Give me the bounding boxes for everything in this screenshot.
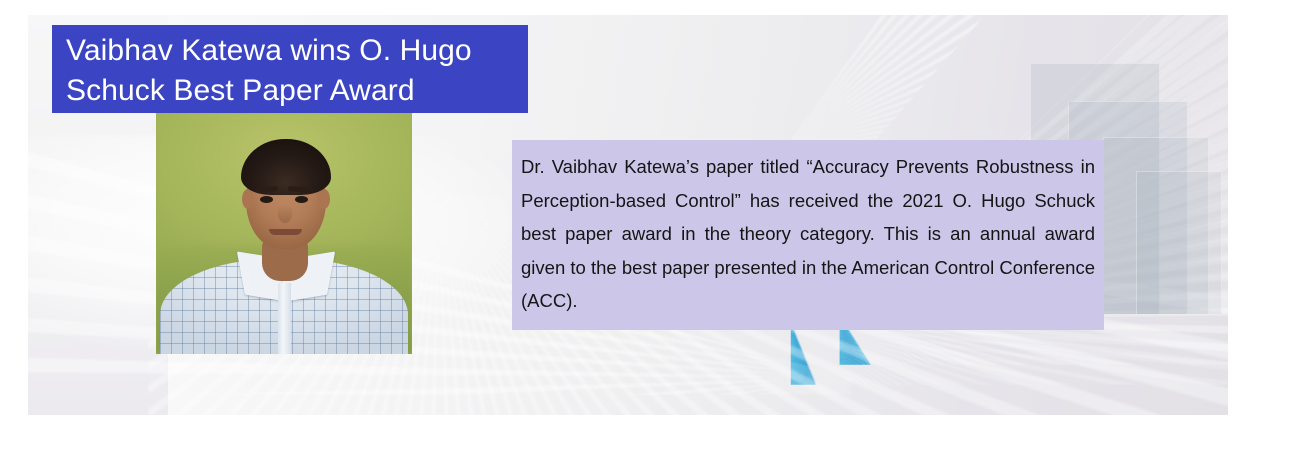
decorative-glass-panel-4 [1136,171,1222,315]
photo-mouth [269,229,302,235]
photo-eye-left [260,196,273,203]
photo-shirt-placket [278,283,291,354]
photo-nose [278,205,292,223]
title-banner: Vaibhav Katewa wins O. Hugo Schuck Best … [52,25,528,113]
body-text-box: Dr. Vaibhav Katewa’s paper titled “Accur… [512,140,1104,330]
photo-ear-right [318,189,330,209]
page-title-line-1: Vaibhav Katewa wins O. Hugo [66,31,528,71]
portrait-photo [156,113,412,354]
photo-eye-right [295,196,308,203]
page-title-line-2: Schuck Best Paper Award [66,71,528,111]
photo-ear-left [242,189,254,209]
body-paragraph: Dr. Vaibhav Katewa’s paper titled “Accur… [521,150,1095,318]
slide-canvas: Vaibhav Katewa wins O. Hugo Schuck Best … [28,15,1228,415]
